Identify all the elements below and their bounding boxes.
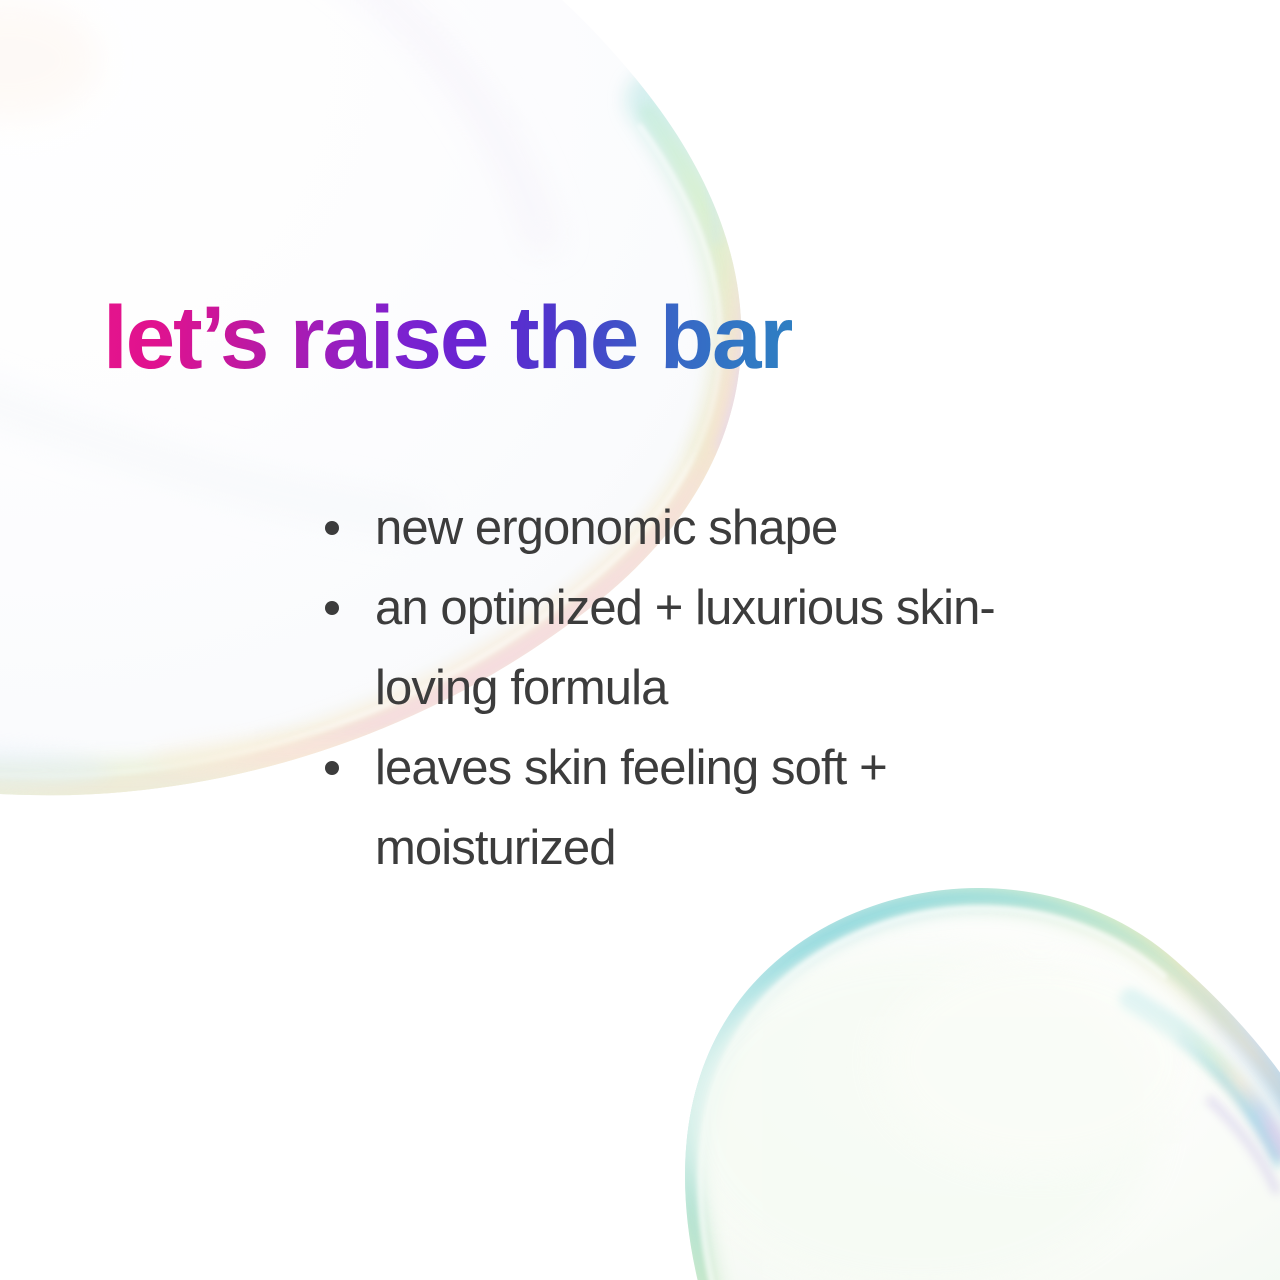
list-item: new ergonomic shape — [318, 488, 1078, 568]
list-item: leaves skin feeling soft + moisturized — [318, 728, 1078, 888]
list-item-label: an optimized + luxurious skin-loving for… — [375, 568, 1015, 728]
bullet-dot-icon — [325, 601, 339, 615]
bullet-dot-icon — [325, 761, 339, 775]
poster-canvas: let’s raise the bar new ergonomic shape … — [0, 0, 1280, 1280]
content-layer: let’s raise the bar new ergonomic shape … — [0, 0, 1280, 1280]
list-item-label: leaves skin feeling soft + moisturized — [375, 728, 1015, 888]
bullet-dot-icon — [325, 521, 339, 535]
page-title: let’s raise the bar — [103, 293, 792, 382]
list-item-label: new ergonomic shape — [375, 488, 1015, 568]
list-item: an optimized + luxurious skin-loving for… — [318, 568, 1078, 728]
benefits-list: new ergonomic shape an optimized + luxur… — [318, 488, 1078, 888]
